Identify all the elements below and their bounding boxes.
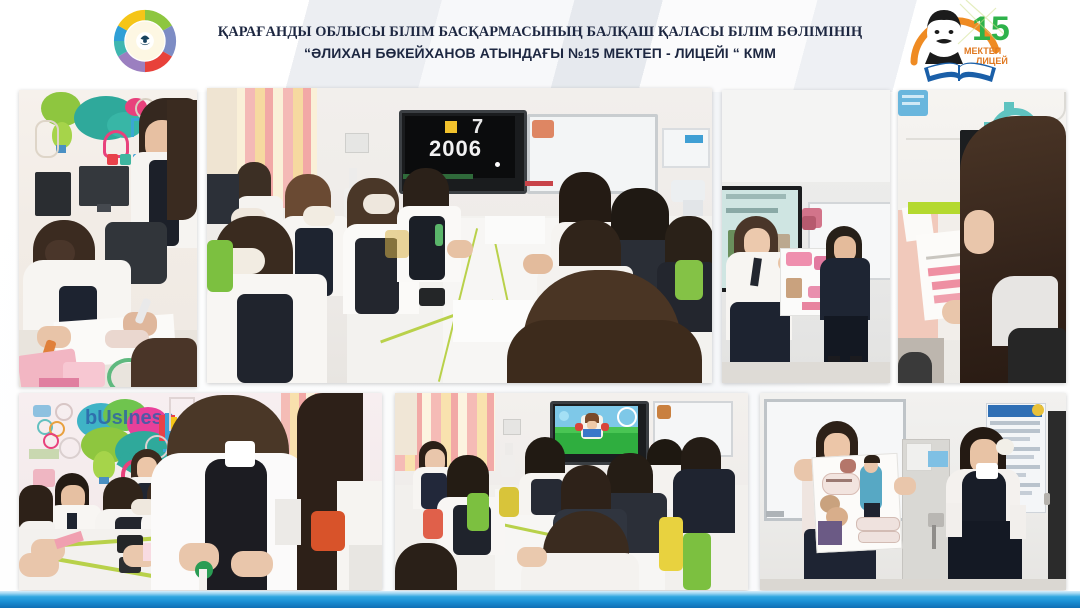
page-title: ҚАРАҒАНДЫ ОБЛЫСЫ БІЛІМ БАСҚАРМАСЫНЫҢ БАЛ… xyxy=(200,22,880,64)
school-lyceum-15-logo: 15 МЕКТЕП ЛИЦЕЙ xyxy=(900,0,1020,88)
footer-accent-bar xyxy=(0,591,1080,608)
page-title-line-2: “ӘЛИХАН БӨКЕЙХАНОВ АТЫНДАҒЫ №15 МЕКТЕП -… xyxy=(200,43,880,64)
slide-header: ҚАРАҒАНДЫ ОБЛЫСЫ БІЛІМ БАСҚАРМАСЫНЫҢ БАЛ… xyxy=(0,0,1080,90)
page-title-line-1: ҚАРАҒАНДЫ ОБЛЫСЫ БІЛІМ БАСҚАРМАСЫНЫҢ БАЛ… xyxy=(200,22,880,43)
gallery-photo-3[interactable] xyxy=(722,90,890,383)
logo-number: 15 xyxy=(972,10,1010,48)
gallery-photo-5[interactable]: bUsIness xyxy=(19,393,382,590)
portrait-icon xyxy=(925,10,963,64)
education-department-circular-emblem xyxy=(108,4,182,78)
gallery-photo-4[interactable] xyxy=(898,90,1066,383)
gallery-photo-2[interactable]: 7 2006 xyxy=(207,88,712,383)
presentation-slide: ҚАРАҒАНДЫ ОБЛЫСЫ БІЛІМ БАСҚАРМАСЫНЫҢ БАЛ… xyxy=(0,0,1080,608)
gallery-photo-1[interactable] xyxy=(19,90,197,387)
gallery-photo-7[interactable] xyxy=(760,393,1066,590)
open-book-icon xyxy=(924,62,996,82)
gallery-photo-6[interactable] xyxy=(395,393,748,590)
svg-text:МЕКТЕП: МЕКТЕП xyxy=(964,46,1001,56)
